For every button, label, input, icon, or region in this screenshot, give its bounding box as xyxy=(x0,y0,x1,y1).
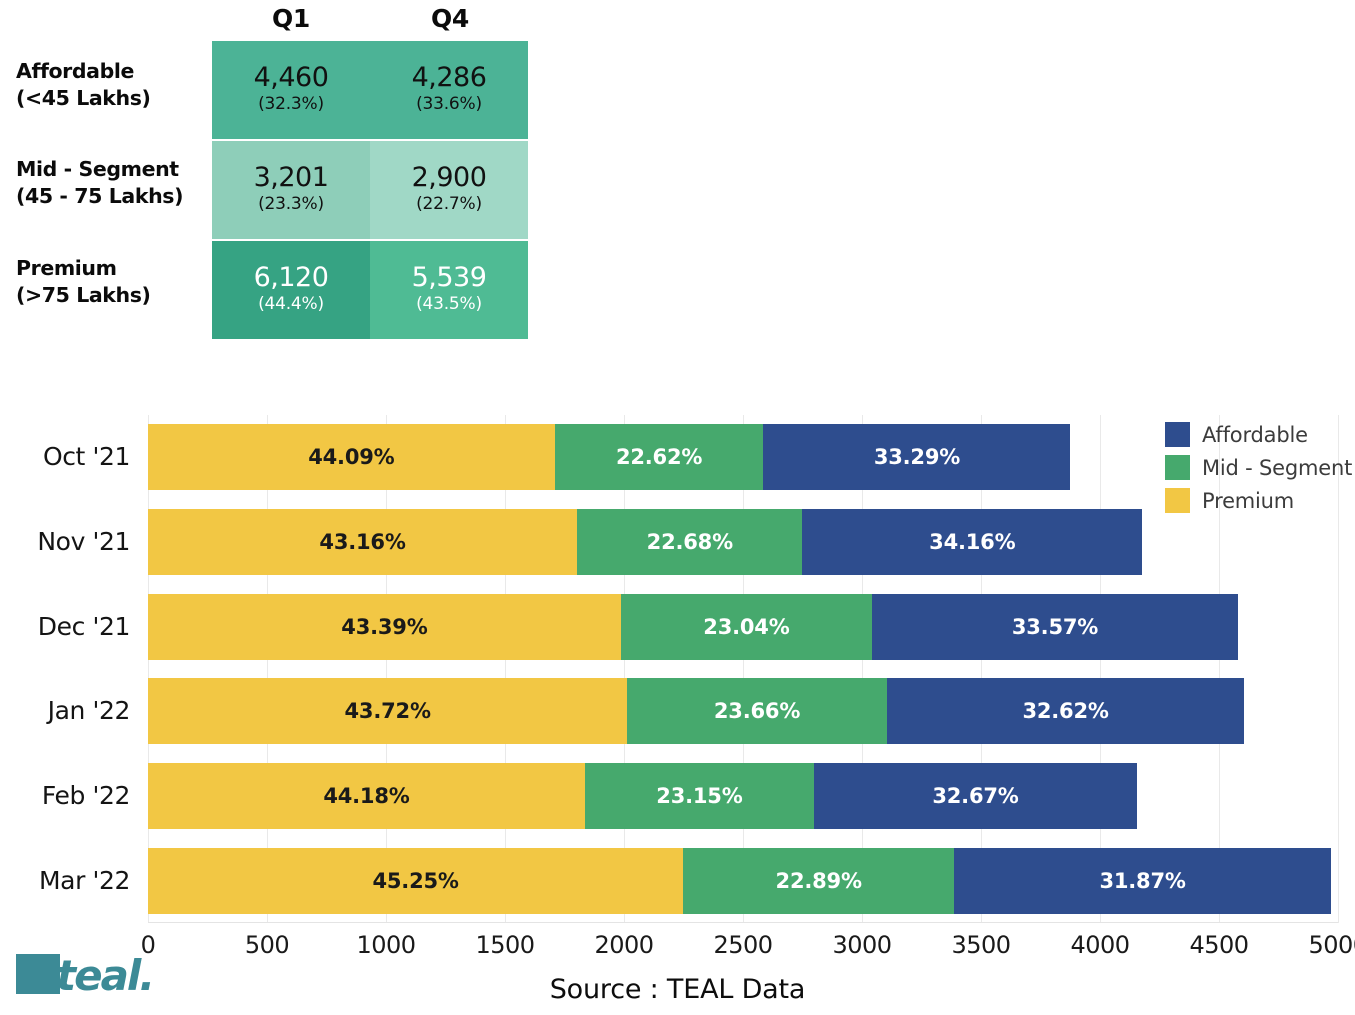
x-tick-label: 5000 xyxy=(1308,931,1355,959)
bar-row[interactable]: Jan '2243.72%23.66%32.62% xyxy=(148,678,1244,744)
bar-segment[interactable]: 44.09% xyxy=(148,424,555,490)
legend-label: Premium xyxy=(1202,489,1294,513)
cell-percent: (32.3%) xyxy=(258,92,324,118)
bar-row[interactable]: Nov '2143.16%22.68%34.16% xyxy=(148,509,1142,575)
x-tick-label: 3000 xyxy=(832,931,891,959)
table-row-label-affordable: Affordable (<45 Lakhs) xyxy=(16,58,212,112)
cell-value: 4,286 xyxy=(412,63,487,92)
y-category-label: Oct '21 xyxy=(43,424,148,490)
table-cell-premium-q4: 5,539 (43.5%) xyxy=(370,241,528,339)
cell-value: 4,460 xyxy=(254,63,329,92)
cell-percent: (22.7%) xyxy=(416,192,482,218)
bar-segment[interactable]: 33.29% xyxy=(763,424,1070,490)
bar-row[interactable]: Dec '2143.39%23.04%33.57% xyxy=(148,594,1238,660)
legend-item[interactable]: Affordable xyxy=(1165,418,1355,451)
bar-segment[interactable]: 45.25% xyxy=(148,848,683,914)
legend-item[interactable]: Mid - Segment xyxy=(1165,451,1355,484)
legend-item[interactable]: Premium xyxy=(1165,484,1355,517)
bar-segment[interactable]: 31.87% xyxy=(954,848,1331,914)
y-category-label: Dec '21 xyxy=(38,594,148,660)
row-label-line2: (45 - 75 Lakhs) xyxy=(16,183,212,210)
teal-logo-square xyxy=(16,954,60,994)
source-note: Source : TEAL Data xyxy=(0,974,1355,1005)
y-category-label: Nov '21 xyxy=(37,509,148,575)
table-cell-affordable-q4: 4,286 (33.6%) xyxy=(370,41,528,139)
cell-percent: (23.3%) xyxy=(258,192,324,218)
x-tick-label: 4000 xyxy=(1070,931,1129,959)
x-tick-label: 2500 xyxy=(713,931,772,959)
legend-swatch xyxy=(1165,455,1190,480)
x-tick-label: 3500 xyxy=(951,931,1010,959)
y-category-label: Mar '22 xyxy=(39,848,148,914)
cell-value: 6,120 xyxy=(254,263,329,292)
row-label-line2: (<45 Lakhs) xyxy=(16,85,212,112)
bar-segment[interactable]: 43.72% xyxy=(148,678,627,744)
legend-label: Mid - Segment xyxy=(1202,456,1352,480)
table-row-label-premium: Premium (>75 Lakhs) xyxy=(16,255,212,309)
row-label-line1: Affordable xyxy=(16,59,134,83)
row-label-line2: (>75 Lakhs) xyxy=(16,282,212,309)
y-category-label: Jan '22 xyxy=(48,678,148,744)
row-label-line1: Mid - Segment xyxy=(16,157,179,181)
bar-segment[interactable]: 22.89% xyxy=(683,848,954,914)
table-column-header-q4: Q4 xyxy=(370,4,530,38)
stacked-bar-chart: Oct '2144.09%22.62%33.29%Nov '2143.16%22… xyxy=(0,370,1355,970)
legend-swatch xyxy=(1165,422,1190,447)
table-cell-mid-segment-q4: 2,900 (22.7%) xyxy=(370,141,528,239)
x-tick-label: 500 xyxy=(245,931,289,959)
y-category-label: Feb '22 xyxy=(42,763,148,829)
bar-segment[interactable]: 43.16% xyxy=(148,509,577,575)
bar-row[interactable]: Mar '2245.25%22.89%31.87% xyxy=(148,848,1331,914)
bar-segment[interactable]: 22.62% xyxy=(555,424,764,490)
bar-row[interactable]: Oct '2144.09%22.62%33.29% xyxy=(148,424,1070,490)
cell-percent: (44.4%) xyxy=(258,292,324,318)
segment-summary-table: Q1 Q4 Affordable (<45 Lakhs) 4,460 (32.3… xyxy=(0,0,560,345)
cell-percent: (33.6%) xyxy=(416,92,482,118)
chart-legend: AffordableMid - SegmentPremium xyxy=(1165,418,1355,517)
bar-segment[interactable]: 23.15% xyxy=(585,763,814,829)
cell-percent: (43.5%) xyxy=(416,292,482,318)
legend-label: Affordable xyxy=(1202,423,1308,447)
bar-segment[interactable]: 22.68% xyxy=(577,509,802,575)
chart-x-axis-line xyxy=(148,922,1338,923)
bar-segment[interactable]: 23.66% xyxy=(627,678,886,744)
bar-segment[interactable]: 43.39% xyxy=(148,594,621,660)
cell-value: 2,900 xyxy=(412,163,487,192)
legend-swatch xyxy=(1165,488,1190,513)
table-cell-affordable-q1: 4,460 (32.3%) xyxy=(212,41,370,139)
table-row-label-mid-segment: Mid - Segment (45 - 75 Lakhs) xyxy=(16,156,212,210)
bar-segment[interactable]: 32.62% xyxy=(887,678,1245,744)
bar-segment[interactable]: 32.67% xyxy=(814,763,1137,829)
x-tick-label: 1500 xyxy=(475,931,534,959)
bar-segment[interactable]: 33.57% xyxy=(872,594,1238,660)
cell-value: 5,539 xyxy=(412,263,487,292)
table-cell-premium-q1: 6,120 (44.4%) xyxy=(212,241,370,339)
teal-logo: teal. xyxy=(16,950,166,1002)
x-tick-label: 2000 xyxy=(594,931,653,959)
bar-segment[interactable]: 23.04% xyxy=(621,594,872,660)
teal-logo-wordmark: teal. xyxy=(56,950,153,1002)
bar-segment[interactable]: 34.16% xyxy=(802,509,1142,575)
chart-plot-area: Oct '2144.09%22.62%33.29%Nov '2143.16%22… xyxy=(148,415,1338,923)
bar-row[interactable]: Feb '2244.18%23.15%32.67% xyxy=(148,763,1137,829)
table-cell-mid-segment-q1: 3,201 (23.3%) xyxy=(212,141,370,239)
row-label-line1: Premium xyxy=(16,256,117,280)
bar-segment[interactable]: 44.18% xyxy=(148,763,585,829)
x-tick-label: 1000 xyxy=(356,931,415,959)
cell-value: 3,201 xyxy=(254,163,329,192)
x-tick-label: 4500 xyxy=(1189,931,1248,959)
table-column-header-q1: Q1 xyxy=(212,4,370,38)
